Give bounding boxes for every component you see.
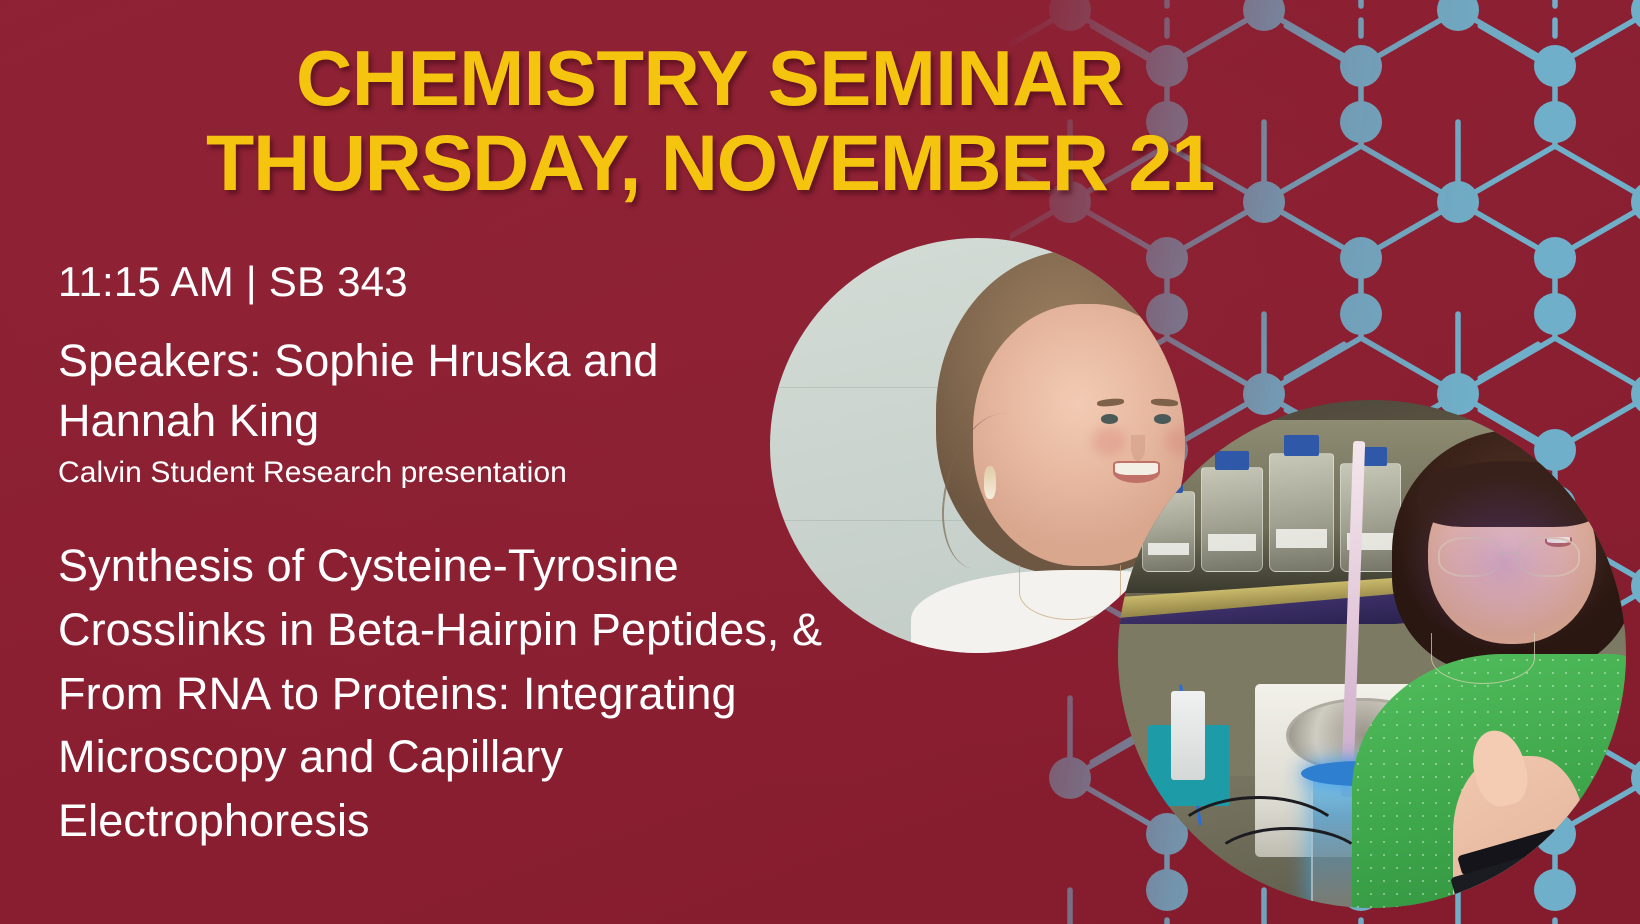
eye xyxy=(1101,414,1118,423)
flask xyxy=(1142,491,1196,572)
lab-photo xyxy=(1118,400,1626,908)
flask xyxy=(1201,467,1262,573)
eyeglasses xyxy=(1438,537,1580,573)
presentation-type: Calvin Student Research presentation xyxy=(58,453,888,492)
lens xyxy=(1517,537,1581,577)
power-cable xyxy=(1209,827,1367,904)
flask xyxy=(1269,453,1334,572)
headline-line-2: THURSDAY, NOVEMBER 21 xyxy=(0,120,1420,205)
earring xyxy=(984,466,996,499)
lens xyxy=(1438,537,1502,577)
poster-headline: CHEMISTRY SEMINAR THURSDAY, NOVEMBER 21 xyxy=(0,36,1420,206)
sample-tube xyxy=(1171,691,1205,780)
lab-scene xyxy=(1118,400,1626,908)
speakers-line: Speakers: Sophie Hruska and Hannah King xyxy=(58,331,748,451)
bangs xyxy=(1418,461,1601,527)
tube-rack xyxy=(1148,725,1229,806)
seminar-poster: CHEMISTRY SEMINAR THURSDAY, NOVEMBER 21 … xyxy=(0,0,1640,924)
time-and-location: 11:15 AM | SB 343 xyxy=(58,258,888,305)
necklace xyxy=(1431,633,1535,685)
necklace xyxy=(1019,565,1121,620)
glasses-bridge xyxy=(1498,552,1521,554)
seminar-details: 11:15 AM | SB 343 Speakers: Sophie Hrusk… xyxy=(58,258,888,853)
talk-title: Synthesis of Cysteine-Tyrosine Crosslink… xyxy=(58,534,858,853)
headline-line-1: CHEMISTRY SEMINAR xyxy=(0,36,1420,120)
